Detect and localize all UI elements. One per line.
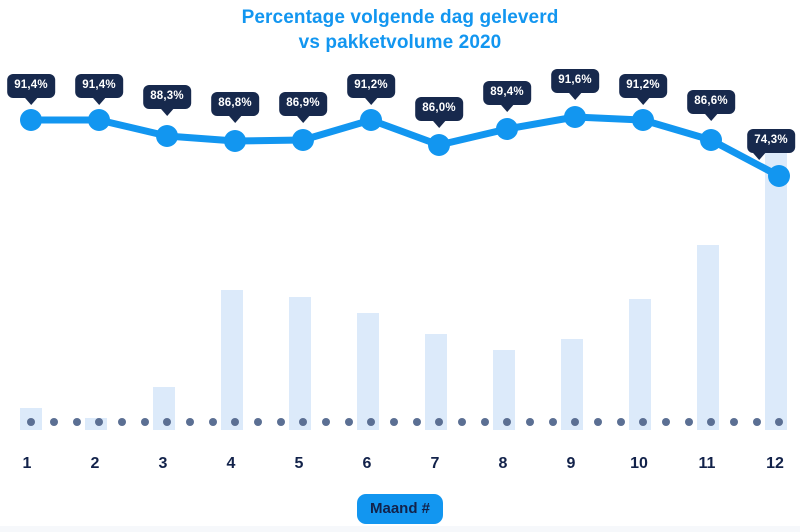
line-series-percentage [0, 60, 800, 430]
value-badge-month-2: 91,4% [75, 74, 123, 98]
line-marker-month-4 [224, 130, 246, 152]
line-marker-month-5 [292, 129, 314, 151]
chart-root: Percentage volgende dag geleverd vs pakk… [0, 0, 800, 532]
line-marker-month-12 [768, 165, 790, 187]
bottom-strip [0, 526, 800, 532]
x-tick-11: 11 [699, 455, 716, 473]
x-tick-7: 7 [431, 455, 440, 473]
plot-area: 91,4% 91,4% 88,3% 86,8% 86,9% 91,2% 86,0… [0, 60, 800, 430]
line-marker-month-1 [20, 109, 42, 131]
line-marker-month-11 [700, 129, 722, 151]
x-tick-9: 9 [567, 455, 576, 473]
value-badge-month-9: 91,6% [551, 69, 599, 93]
x-tick-4: 4 [227, 455, 236, 473]
value-badge-month-3: 88,3% [143, 85, 191, 109]
x-tick-1: 1 [23, 455, 32, 473]
value-badge-month-6: 91,2% [347, 74, 395, 98]
x-tick-10: 10 [630, 455, 648, 473]
value-badge-month-10: 91,2% [619, 74, 667, 98]
line-marker-month-10 [632, 109, 654, 131]
x-tick-12: 12 [766, 455, 784, 473]
x-axis-title: Maand # [357, 494, 443, 524]
line-path [31, 117, 779, 176]
line-marker-month-7 [428, 134, 450, 156]
line-marker-month-8 [496, 118, 518, 140]
x-tick-5: 5 [295, 455, 304, 473]
chart-title: Percentage volgende dag geleverd vs pakk… [0, 5, 800, 55]
line-marker-month-3 [156, 125, 178, 147]
x-axis: 1 2 3 4 5 6 7 8 9 10 11 12 [0, 455, 800, 481]
line-marker-month-9 [564, 106, 586, 128]
value-badge-month-7: 86,0% [415, 97, 463, 121]
x-tick-2: 2 [91, 455, 100, 473]
value-badge-month-5: 86,9% [279, 92, 327, 116]
value-badge-month-4: 86,8% [211, 92, 259, 116]
x-axis-title-wrap: Maand # [0, 494, 800, 524]
value-badge-month-8: 89,4% [483, 81, 531, 105]
x-tick-8: 8 [499, 455, 508, 473]
line-marker-month-6 [360, 109, 382, 131]
x-tick-6: 6 [363, 455, 372, 473]
value-badge-month-1: 91,4% [7, 74, 55, 98]
line-marker-month-2 [88, 109, 110, 131]
value-badge-month-12: 74,3% [747, 129, 795, 153]
value-badge-month-11: 86,6% [687, 90, 735, 114]
x-tick-3: 3 [159, 455, 168, 473]
